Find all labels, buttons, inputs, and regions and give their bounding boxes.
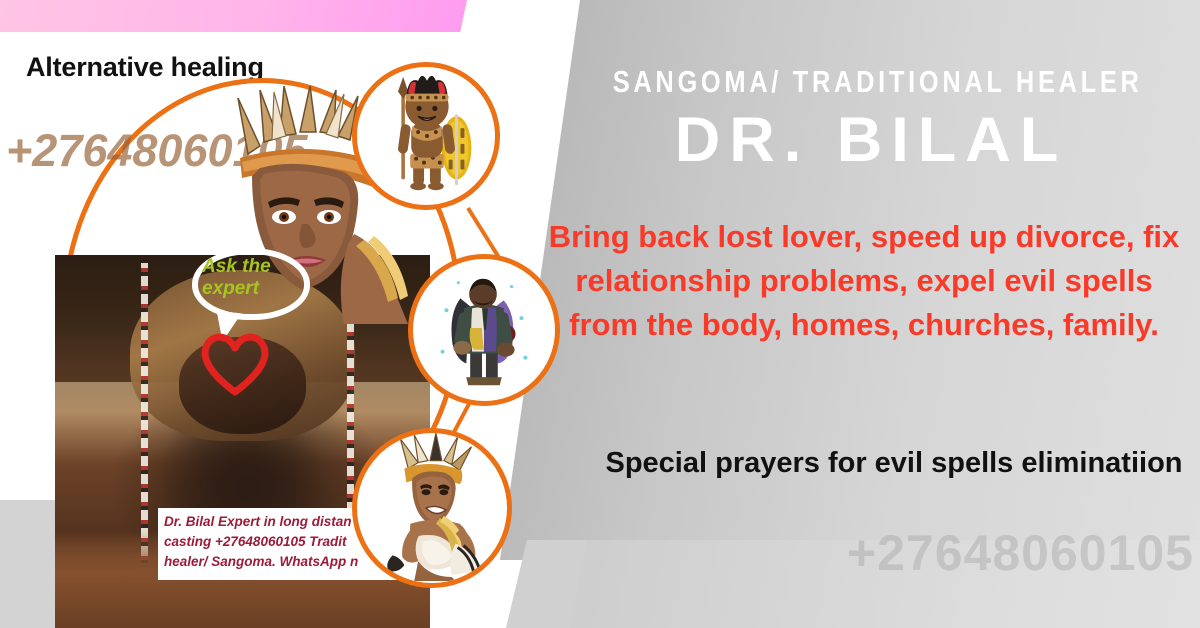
- badge-zulu-warrior: [352, 62, 500, 210]
- services-text: Bring back lost lover, speed up divorce,…: [540, 215, 1188, 347]
- heart-icon: [198, 330, 272, 396]
- kicker-heading: SANGOMA/ TRADITIONAL HEALER: [613, 64, 1130, 100]
- pink-gradient-band: [0, 0, 470, 32]
- brand-name: DR. BILAL: [556, 104, 1186, 176]
- speech-bubble-label: Ask the expert: [202, 256, 302, 300]
- crouching-warrior-figure-icon: [357, 433, 505, 581]
- traditional-diviner-figure-icon: [413, 259, 553, 399]
- badge-traditional-diviner: [408, 254, 560, 406]
- badge-crouching-warrior: [352, 428, 512, 588]
- zulu-warrior-cartoon-icon: [357, 67, 495, 205]
- page-title: Alternative healing: [26, 52, 264, 83]
- watermark-phone: +27648060105: [600, 524, 1200, 582]
- prayers-text: Special prayers for evil spells eliminat…: [600, 442, 1188, 484]
- connector-line-2: [466, 207, 501, 260]
- bead-strand-left: [141, 263, 148, 563]
- caption-line-3: healer/ Sangoma. WhatsApp n: [164, 552, 397, 572]
- poster-canvas: Alternative healing +27648060105: [0, 0, 1200, 628]
